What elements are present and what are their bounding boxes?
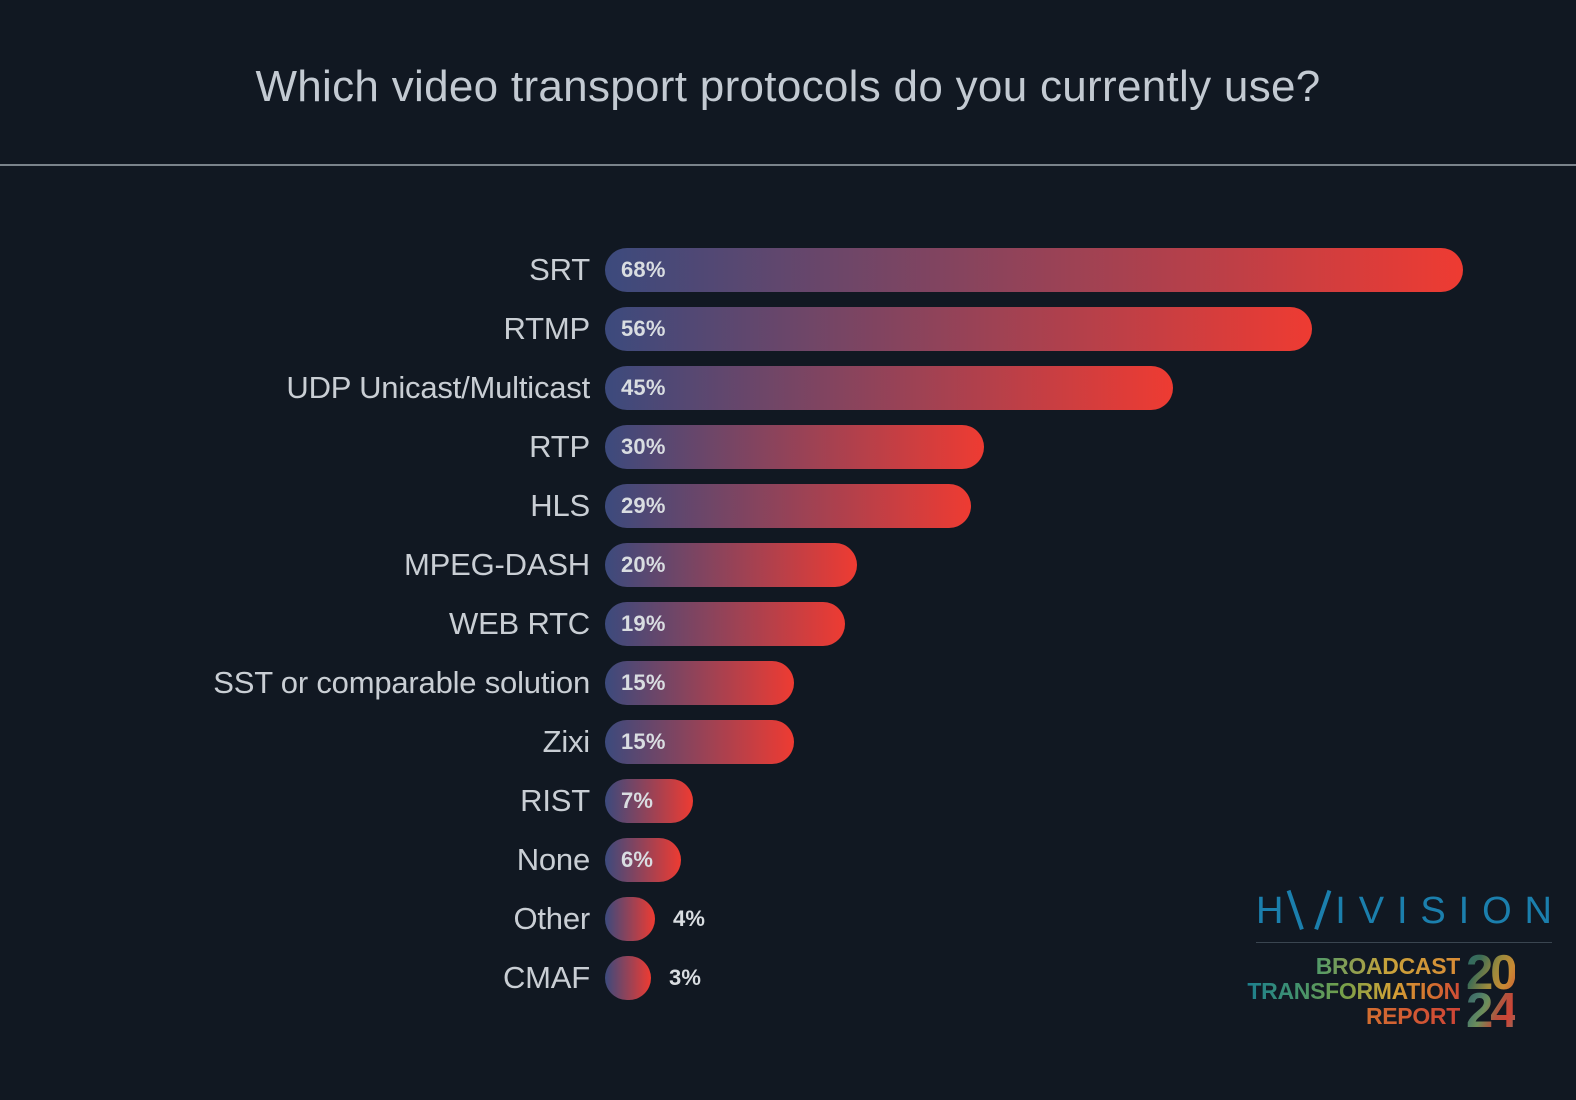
bar-row: RTP30% [0,417,1576,476]
bar-category-label: None [0,842,605,878]
bar-value-label: 45% [605,375,666,401]
bar-value-label: 15% [605,670,666,696]
bar-row: SST or comparable solution15% [0,653,1576,712]
bar-category-label: RTMP [0,311,605,347]
bar-category-label: MPEG-DASH [0,547,605,583]
bar: 45% [605,366,1173,410]
bar-value-label: 15% [605,729,666,755]
bar: 19% [605,602,845,646]
page-title: Which video transport protocols do you c… [0,62,1576,112]
bar: 56% [605,307,1312,351]
brand-letter-a-chevron-icon [1296,892,1322,930]
bar-track: 68% [605,248,1576,292]
bar-value-label: 7% [605,788,653,814]
bar-track: 6% [605,838,1576,882]
bar-row: UDP Unicast/Multicast45% [0,358,1576,417]
bar-category-label: WEB RTC [0,606,605,642]
bar-category-label: RIST [0,783,605,819]
bar-category-label: Zixi [0,724,605,760]
bar-track: 45% [605,366,1576,410]
bar-track: 56% [605,307,1576,351]
haivision-logo: H I V I S I O N BROADCAST TRANSFORMATION… [1256,892,1552,1030]
brand-letter-i3: I [1459,892,1470,930]
brand-letter-n: N [1525,892,1552,930]
report-title: BROADCAST TRANSFORMATION REPORT [1247,954,1460,1029]
bar-row: SRT68% [0,240,1576,299]
bar-category-label: Other [0,901,605,937]
brand-letter-s: S [1420,892,1445,930]
bar-value-label: 29% [605,493,666,519]
bar-row: RIST7% [0,771,1576,830]
logo-divider [1256,942,1552,943]
brand-letter-i1: I [1335,892,1346,930]
bar: 30% [605,425,984,469]
bar-value-label: 30% [605,434,666,460]
header-divider [0,164,1576,166]
report-line-broadcast: BROADCAST [1247,954,1460,979]
report-line-report: REPORT [1247,1004,1460,1029]
brand-letter-i2: I [1397,892,1408,930]
bar-row: WEB RTC19% [0,594,1576,653]
bar-track: 15% [605,661,1576,705]
bar: 68% [605,248,1463,292]
bar-row: HLS29% [0,476,1576,535]
bar: 29% [605,484,971,528]
bar: 15% [605,720,794,764]
slide-header: Which video transport protocols do you c… [0,0,1576,164]
bar-value-label: 6% [605,847,653,873]
bar-category-label: UDP Unicast/Multicast [0,370,605,406]
brand-letter-h: H [1256,892,1283,930]
bar-track: 29% [605,484,1576,528]
brand-letter-v: V [1359,892,1384,930]
bar [605,956,651,1000]
bar-row: Zixi15% [0,712,1576,771]
bar-row: MPEG-DASH20% [0,535,1576,594]
bar-row: RTMP56% [0,299,1576,358]
report-year: 20 24 [1466,954,1552,1030]
bar-row: None6% [0,830,1576,889]
bar-track: 15% [605,720,1576,764]
bar-value-label: 20% [605,552,666,578]
bar-category-label: HLS [0,488,605,524]
bar-track: 30% [605,425,1576,469]
bar-value-label: 68% [605,257,666,283]
bar-value-label: 19% [605,611,666,637]
bar-value-label: 3% [669,965,701,991]
bar-track: 19% [605,602,1576,646]
bar-category-label: SST or comparable solution [0,665,605,701]
bar-track: 7% [605,779,1576,823]
bar: 20% [605,543,857,587]
bar: 15% [605,661,794,705]
report-line-transformation: TRANSFORMATION [1247,979,1460,1004]
bar: 7% [605,779,693,823]
bar-value-label: 56% [605,316,666,342]
bar-category-label: CMAF [0,960,605,996]
brand-letter-o: O [1482,892,1512,930]
report-year-bottom: 24 [1466,990,1515,1032]
bar: 6% [605,838,681,882]
bar-value-label: 4% [673,906,705,932]
report-lockup: BROADCAST TRANSFORMATION REPORT 20 24 [1256,954,1552,1030]
bar-track: 20% [605,543,1576,587]
bar [605,897,655,941]
bar-category-label: SRT [0,252,605,288]
bar-category-label: RTP [0,429,605,465]
chart-slide: Which video transport protocols do you c… [0,0,1576,1100]
brand-wordmark: H I V I S I O N [1256,892,1552,930]
